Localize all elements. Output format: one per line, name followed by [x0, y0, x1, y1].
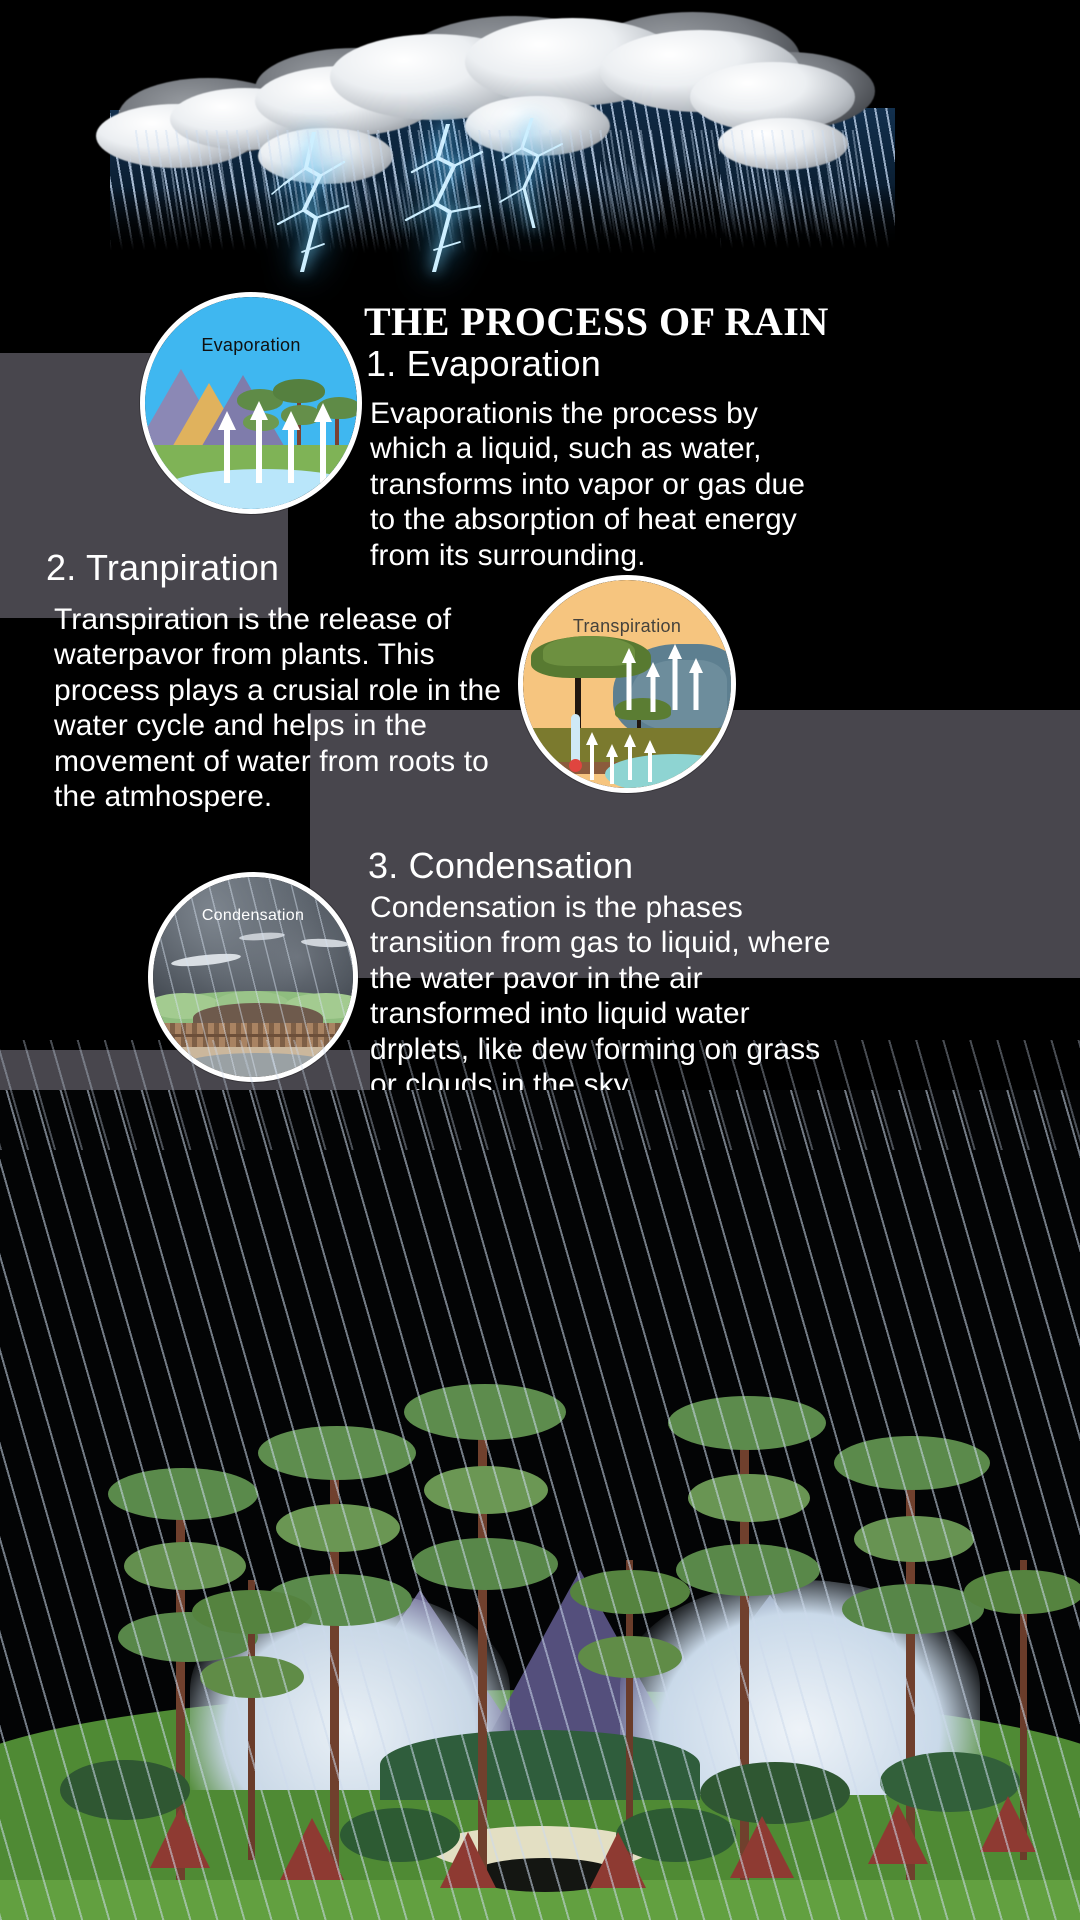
evaporation-circle-label: Evaporation — [145, 335, 357, 356]
evaporation-circle[interactable]: Evaporation — [140, 292, 362, 514]
pine-canopy — [124, 1542, 246, 1590]
vapor-arrow-icon — [645, 662, 661, 712]
pine-canopy — [964, 1570, 1080, 1614]
condensation-circle[interactable]: Condensation — [148, 872, 358, 1082]
tent — [868, 1804, 928, 1864]
storm-scene — [0, 0, 1080, 300]
pine-canopy — [108, 1468, 258, 1520]
transpiration-circle-label: Transpiration — [523, 616, 731, 637]
vapor-arrow-icon — [623, 734, 637, 780]
section-3-body: Condensation is the phases transition fr… — [370, 890, 850, 1102]
vapor-arrow-icon — [688, 658, 704, 710]
pine-canopy — [570, 1570, 690, 1614]
vapor-arrow-icon — [667, 644, 683, 710]
tent — [980, 1796, 1036, 1852]
rain-overlay — [130, 130, 860, 240]
vapor-arrow-icon — [605, 744, 619, 784]
vapor-arrow-icon — [643, 740, 657, 782]
condensation-circle-label: Condensation — [153, 907, 353, 925]
tent — [150, 1808, 210, 1868]
pine-canopy — [854, 1516, 974, 1562]
transpiration-circle[interactable]: Transpiration — [518, 575, 736, 793]
tree-canopy — [273, 379, 325, 403]
thermometer-bulb — [569, 759, 582, 772]
vapor-arrow-icon — [313, 403, 333, 483]
vapor-arrow-icon — [621, 648, 637, 710]
mountain-ridge — [380, 1730, 700, 1800]
bush — [700, 1762, 850, 1824]
pine-canopy — [676, 1544, 820, 1596]
vapor-arrow-icon — [585, 732, 599, 780]
pine-canopy — [842, 1584, 984, 1634]
pine-canopy — [688, 1474, 810, 1522]
pine-canopy — [192, 1590, 312, 1634]
pine-canopy — [404, 1384, 566, 1440]
section-2-body: Transpiration is the release of waterpav… — [54, 602, 524, 814]
tent — [280, 1818, 344, 1880]
pine-canopy — [834, 1436, 990, 1490]
tent — [730, 1816, 794, 1878]
pine-canopy — [412, 1538, 558, 1590]
transpiration-illustration — [523, 580, 731, 788]
pine-canopy — [424, 1466, 548, 1514]
section-1-body: Evaporationis the process by which a liq… — [370, 396, 830, 573]
pine-canopy — [578, 1636, 682, 1678]
pine-canopy — [200, 1656, 304, 1698]
vapor-arrow-icon — [217, 411, 237, 483]
page-title: THE PROCESS OF RAIN — [364, 300, 1004, 344]
vapor-arrow-icon — [249, 401, 269, 483]
forest-scene — [0, 1090, 1080, 1920]
evaporation-illustration — [145, 297, 357, 509]
tent — [590, 1832, 646, 1888]
tent — [440, 1832, 496, 1888]
section-3-heading: 3. Condensation — [368, 846, 968, 886]
vapor-arrow-icon — [281, 411, 301, 483]
section-1-heading: 1. Evaporation — [366, 344, 966, 384]
pine-canopy — [276, 1504, 400, 1552]
pine-canopy — [668, 1396, 826, 1450]
section-2-heading: 2. Tranpiration — [46, 548, 566, 588]
pine-canopy — [258, 1426, 416, 1480]
